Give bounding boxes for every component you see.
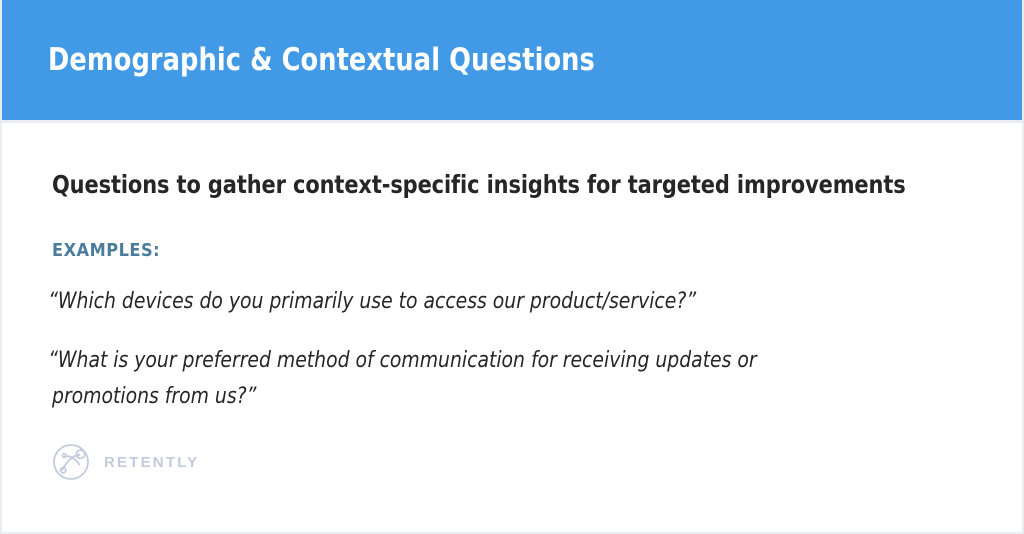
examples-list: “Which devices do you primarily use to a… (52, 261, 972, 414)
slide-card: Demographic & Contextual Questions Quest… (0, 0, 1024, 534)
list-item: “Which devices do you primarily use to a… (52, 261, 822, 320)
card-body: Questions to gather context-specific ins… (2, 123, 1022, 532)
page-title: Demographic & Contextual Questions (2, 43, 595, 77)
examples-label: EXAMPLES: (52, 200, 972, 262)
retently-logo: RETENTLY (52, 442, 199, 482)
list-item: “What is your preferred method of commun… (52, 320, 822, 414)
body-heading: Questions to gather context-specific ins… (52, 123, 908, 200)
retently-circle-mark-icon (52, 442, 92, 482)
retently-wordmark: RETENTLY (104, 455, 199, 470)
card-header: Demographic & Contextual Questions (2, 0, 1022, 123)
